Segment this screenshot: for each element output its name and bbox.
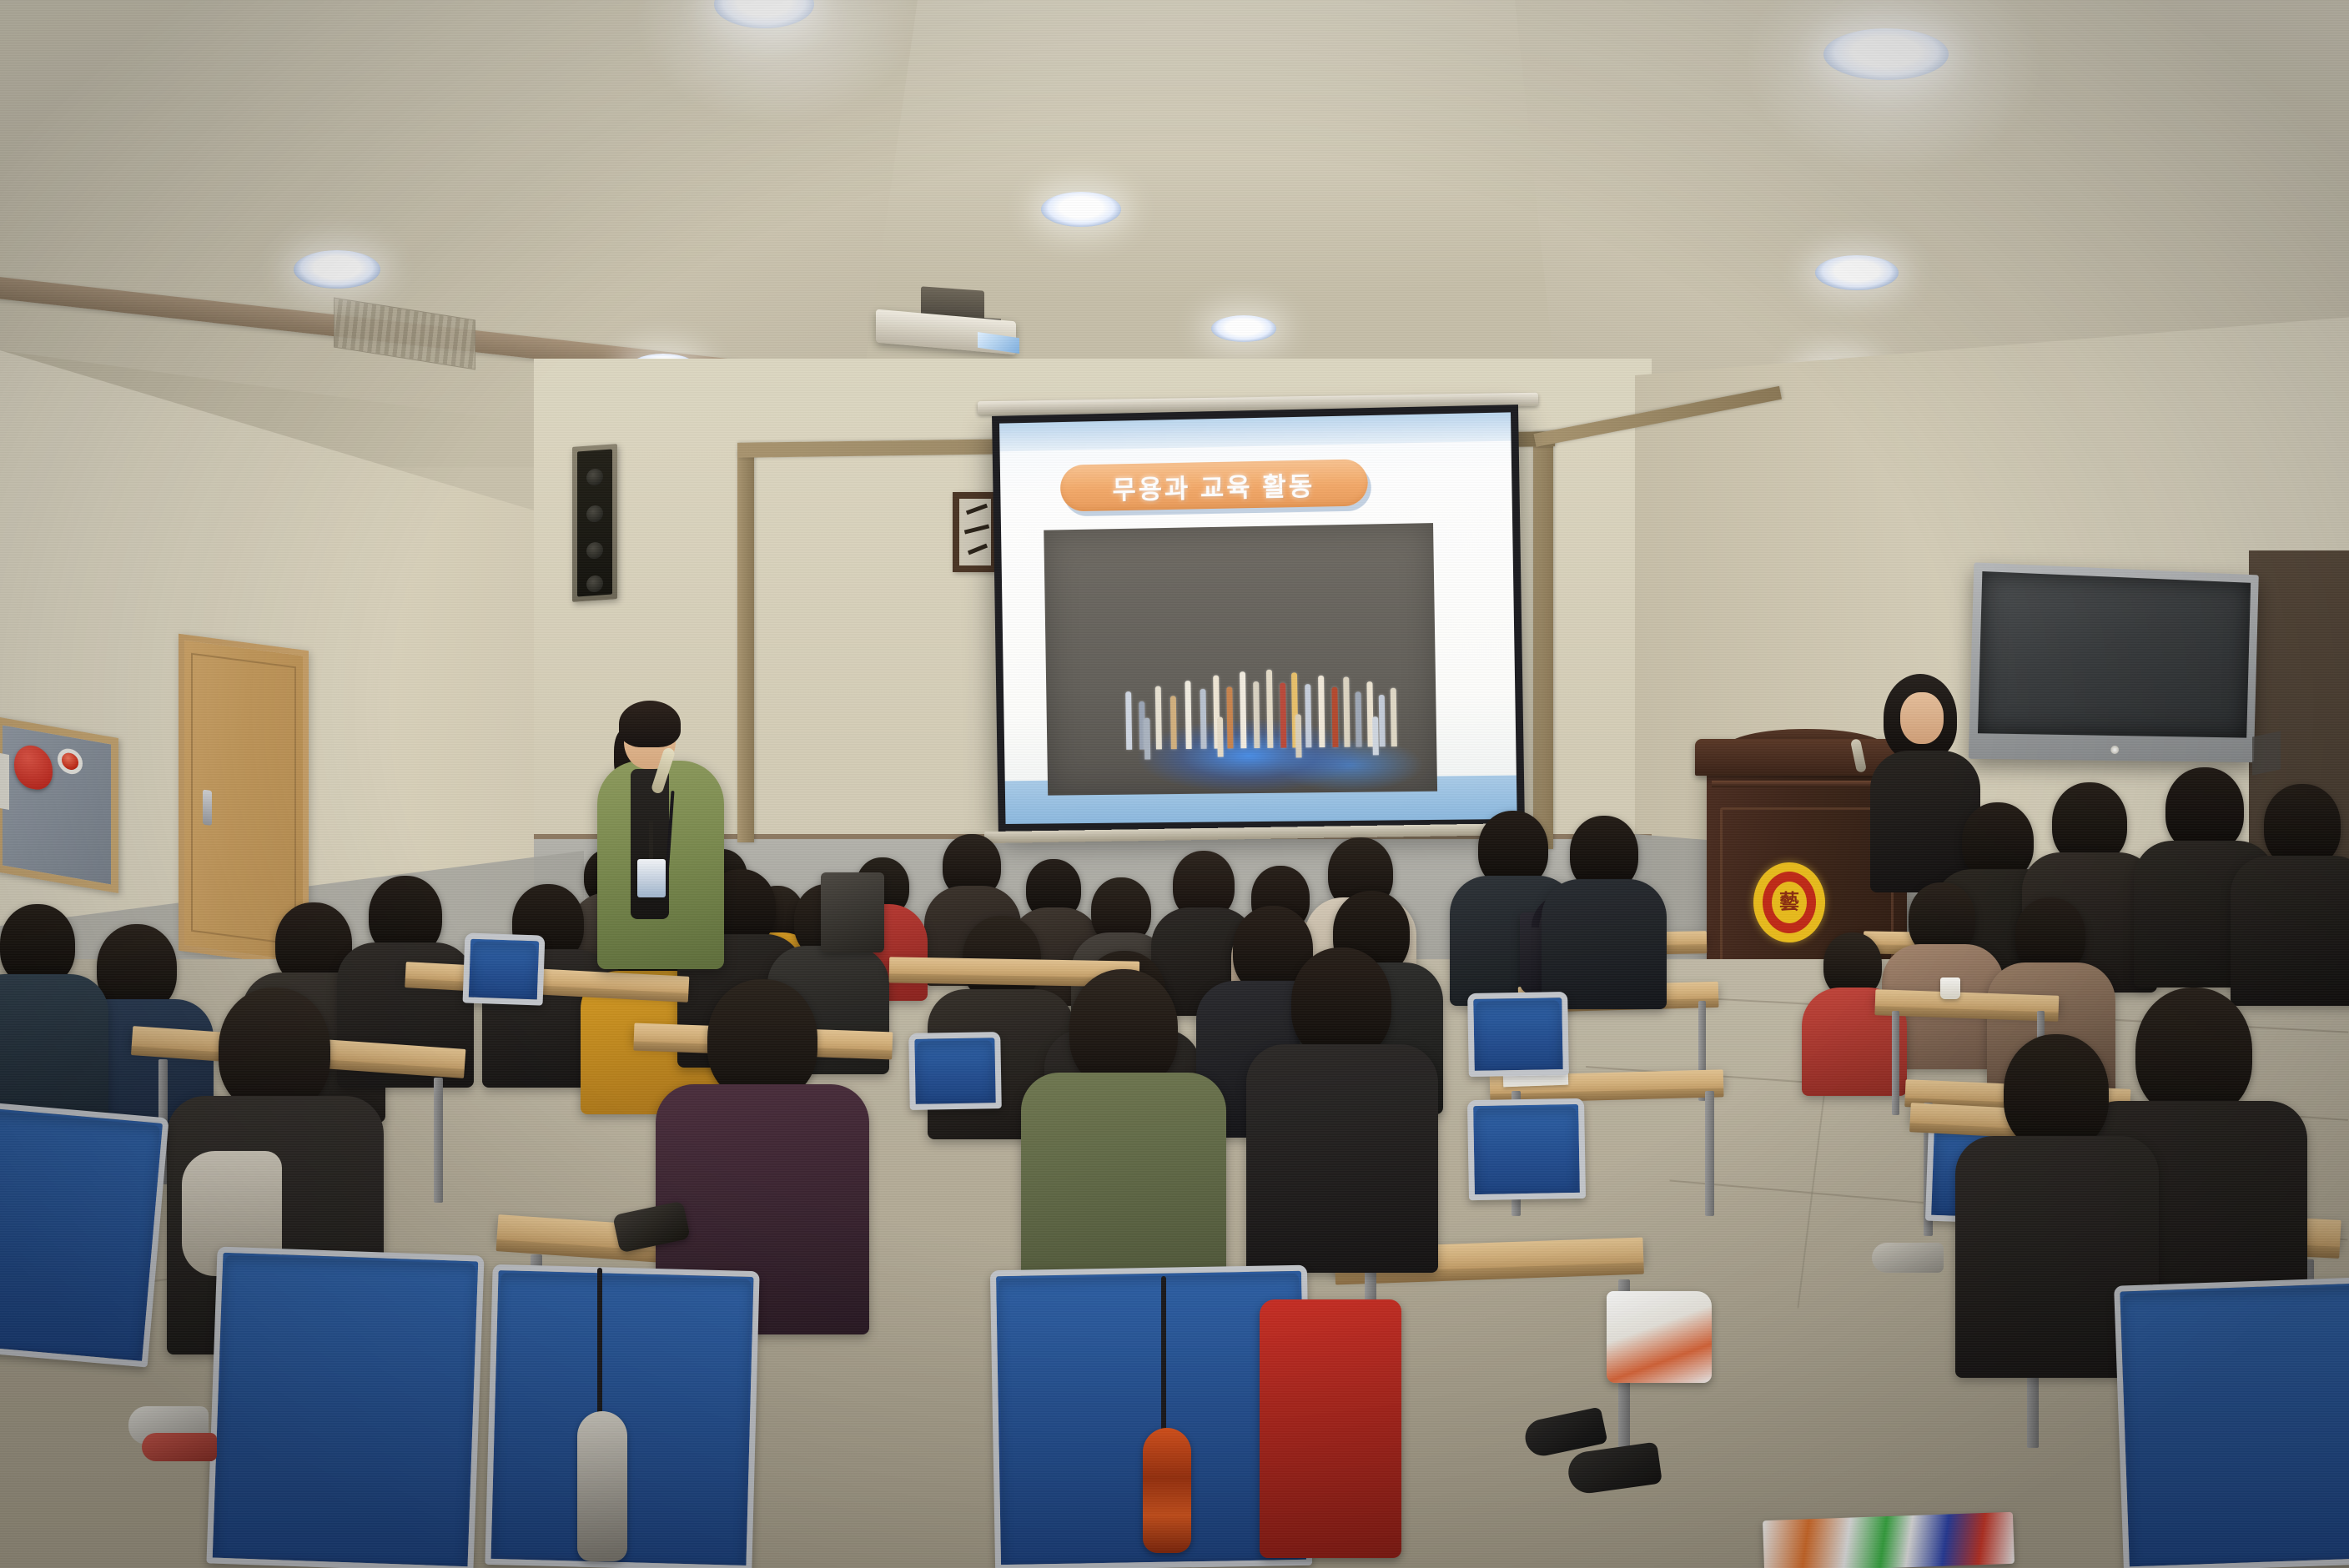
- shoe: [1872, 1243, 1944, 1273]
- slide-photo: [1044, 523, 1437, 796]
- equipment-stand: [821, 872, 884, 952]
- chair[interactable]: [2114, 1276, 2349, 1568]
- emblem-gold-center: 藝: [1772, 882, 1807, 923]
- chair[interactable]: [206, 1247, 484, 1568]
- podium-emblem-icon: 藝: [1753, 862, 1825, 942]
- presenter-hair: [619, 701, 681, 747]
- downlight-icon: [1815, 255, 1899, 290]
- slide-title-text: 무용과 교육 활동: [1112, 465, 1315, 506]
- chair[interactable]: [463, 932, 546, 1005]
- projector-icon: [876, 300, 1018, 349]
- presenter-person: [584, 699, 742, 974]
- chair[interactable]: [1467, 992, 1569, 1077]
- emblem-red-ring: 藝: [1763, 872, 1816, 933]
- speaker-grille: [577, 450, 612, 597]
- wall-speaker-icon: [572, 444, 617, 602]
- wall-trim-vertical-right: [1533, 432, 1553, 849]
- wall-tv: [1969, 562, 2259, 762]
- lanyard-strap: [649, 821, 653, 862]
- desk-leg: [434, 1078, 443, 1203]
- slide-surface: 무용과 교육 활동: [999, 412, 1517, 824]
- alarm-slot: [0, 753, 9, 810]
- fire-alarm-lamp-icon: [58, 746, 83, 776]
- id-badge: [637, 859, 666, 897]
- red-jacket: [1260, 1299, 1401, 1558]
- tv-power-led-icon: [2110, 746, 2119, 754]
- door-handle[interactable]: [203, 790, 212, 826]
- umbrella-shaft: [1161, 1276, 1166, 1435]
- umbrella-shaft: [597, 1268, 602, 1418]
- framed-calligraphy: [953, 492, 998, 572]
- umbrella-icon[interactable]: [577, 1411, 627, 1561]
- chair[interactable]: [908, 1032, 1002, 1110]
- chair[interactable]: [0, 1102, 169, 1368]
- podium-speaker-face: [1900, 692, 1944, 744]
- fire-alarm-bell-icon[interactable]: [14, 742, 53, 792]
- projection-screen: 무용과 교육 활동: [992, 405, 1525, 832]
- downlight-icon: [1211, 315, 1276, 342]
- plastic-bag[interactable]: [1607, 1291, 1712, 1383]
- umbrella-icon[interactable]: [1143, 1428, 1191, 1553]
- slide-top-band: [999, 412, 1511, 451]
- emblem-character: 藝: [1779, 892, 1799, 912]
- tv-wall-mount: [2252, 731, 2281, 775]
- fire-alarm-panel: [0, 716, 118, 893]
- lecture-hall-photo: 무용과 교육 활동: [0, 0, 2349, 1568]
- downlight-icon: [1823, 28, 1949, 80]
- downlight-icon: [294, 250, 380, 289]
- paper-cup: [1940, 977, 1960, 999]
- slide-title-banner: 무용과 교육 활동: [1060, 459, 1368, 511]
- downlight-icon: [1041, 192, 1121, 227]
- tv-screen: [1978, 571, 2251, 738]
- shoe: [142, 1433, 217, 1461]
- chair[interactable]: [1467, 1098, 1586, 1200]
- desk-leg: [1892, 1011, 1899, 1115]
- colorful-floor-bag[interactable]: [1763, 1512, 2015, 1568]
- desk-leg: [1705, 1091, 1714, 1216]
